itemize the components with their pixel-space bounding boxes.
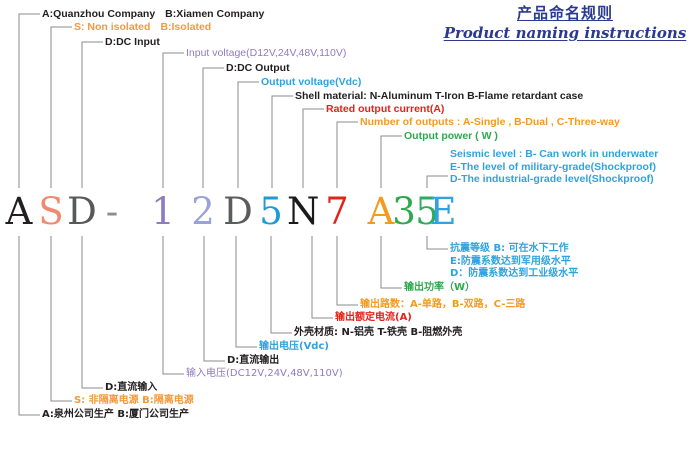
- label-num-outputs: Number of outputs : A-Single , B-Dual , …: [360, 116, 620, 129]
- part-char-2: D: [66, 192, 98, 232]
- leader-seismic-top: [427, 176, 448, 188]
- leader-input-voltage-cn: [163, 236, 184, 374]
- label-input-voltage: Input voltage(D12V,24V,48V,110V): [186, 47, 346, 60]
- leader-seismic-bottom-cn: [427, 236, 448, 249]
- seismic-line-1: Seismic level : B- Can work in underwate…: [450, 148, 658, 161]
- leader-output-voltage-cn: [236, 236, 257, 347]
- label-output-voltage: Output voltage(Vdc): [261, 76, 361, 89]
- leader-output-power: [381, 136, 402, 188]
- part-char-8: N: [287, 192, 319, 232]
- part-number: ASD-12D5N7A35E: [0, 190, 450, 234]
- seismic-line-2: E-The level of military-grade(Shockproof…: [450, 161, 658, 174]
- label-input-voltage-cn: 输入电压(DC12V,24V,48V,110V): [186, 368, 343, 381]
- part-char-6: D: [222, 192, 254, 232]
- label-dc-input: D:DC Input: [105, 36, 160, 49]
- label-isolation: S: Non isolatedB:Isolated: [74, 21, 211, 34]
- part-char-4: 1: [147, 192, 179, 232]
- part-char-3: -: [96, 192, 128, 232]
- page-title-en: Product naming instructions: [440, 24, 690, 42]
- leader-output-voltage: [238, 82, 259, 188]
- part-char-7: 5: [255, 192, 287, 232]
- leader-company-cn: [19, 236, 40, 415]
- leader-rated-current-cn: [312, 236, 333, 318]
- label-seismic-level-cn: 抗震等级 B: 可在水下工作 E:防震系数达到军用级水平 D：防震系数达到工业级…: [450, 243, 578, 281]
- seismic-cn-line-3: D：防震系数达到工业级水平: [450, 268, 578, 281]
- label-isolation-cn: S: 非隔离电源 B:隔离电源: [74, 395, 194, 408]
- label-rated-current-cn: 输出额定电流(A): [335, 312, 412, 325]
- leader-isolation-cn: [51, 236, 72, 401]
- label-shell-material: Shell material: N-Aluminum T-Iron B-Flam…: [295, 90, 583, 103]
- label-rated-current: Rated output current(A): [326, 103, 444, 116]
- leader-company: [19, 14, 40, 188]
- leader-shell-material-cn: [271, 236, 292, 333]
- seismic-cn-line-1: 抗震等级 B: 可在水下工作: [450, 243, 578, 256]
- seismic-line-3: D-The industrial-grade level(Shockproof): [450, 173, 658, 186]
- part-char-1: S: [35, 192, 67, 232]
- label-company: A:Quanzhou CompanyB:Xiamen Company: [42, 8, 264, 21]
- part-char-13: E: [427, 192, 459, 232]
- leader-isolation: [51, 27, 72, 188]
- label-shell-material-cn: 外壳材质: N-铝壳 T-铁壳 B-阻燃外壳: [294, 327, 462, 340]
- leader-input-voltage: [163, 53, 184, 188]
- leader-dc-input: [82, 42, 103, 188]
- label-dc-output-cn: D:直流输出: [227, 355, 279, 368]
- label-dc-input-cn: D:直流输入: [105, 382, 157, 395]
- page-title-cn: 产品命名规则: [517, 2, 613, 23]
- seismic-cn-line-2: E:防震系数达到军用级水平: [450, 256, 578, 269]
- leader-output-power-cn: [381, 236, 402, 288]
- label-seismic-level: Seismic level : B- Can work in underwate…: [450, 148, 658, 186]
- leader-num-outputs-cn: [337, 236, 358, 305]
- label-output-power: Output power ( W ): [404, 130, 498, 143]
- naming-rule-diagram: 产品命名规则 Product naming instructions ASD-1…: [0, 0, 700, 455]
- part-char-0: A: [3, 192, 35, 232]
- leader-dc-input-cn: [82, 236, 103, 388]
- leader-shell-material: [272, 96, 293, 188]
- part-char-5: 2: [187, 192, 219, 232]
- leader-rated-current: [303, 109, 324, 188]
- leader-dc-output: [203, 68, 224, 188]
- label-dc-output: D:DC Output: [226, 62, 290, 75]
- page-title: 产品命名规则 Product naming instructions: [440, 2, 690, 42]
- leader-num-outputs: [337, 122, 358, 188]
- label-company-cn: A:泉州公司生产 B:厦门公司生产: [42, 409, 189, 422]
- label-num-outputs-cn: 输出路数：A-单路，B-双路，C-三路: [360, 299, 525, 312]
- leader-dc-output-cn: [204, 236, 225, 361]
- label-output-voltage-cn: 输出电压(Vdc): [259, 341, 329, 354]
- part-char-9: 7: [321, 192, 353, 232]
- label-output-power-cn: 输出功率（W）: [404, 282, 475, 295]
